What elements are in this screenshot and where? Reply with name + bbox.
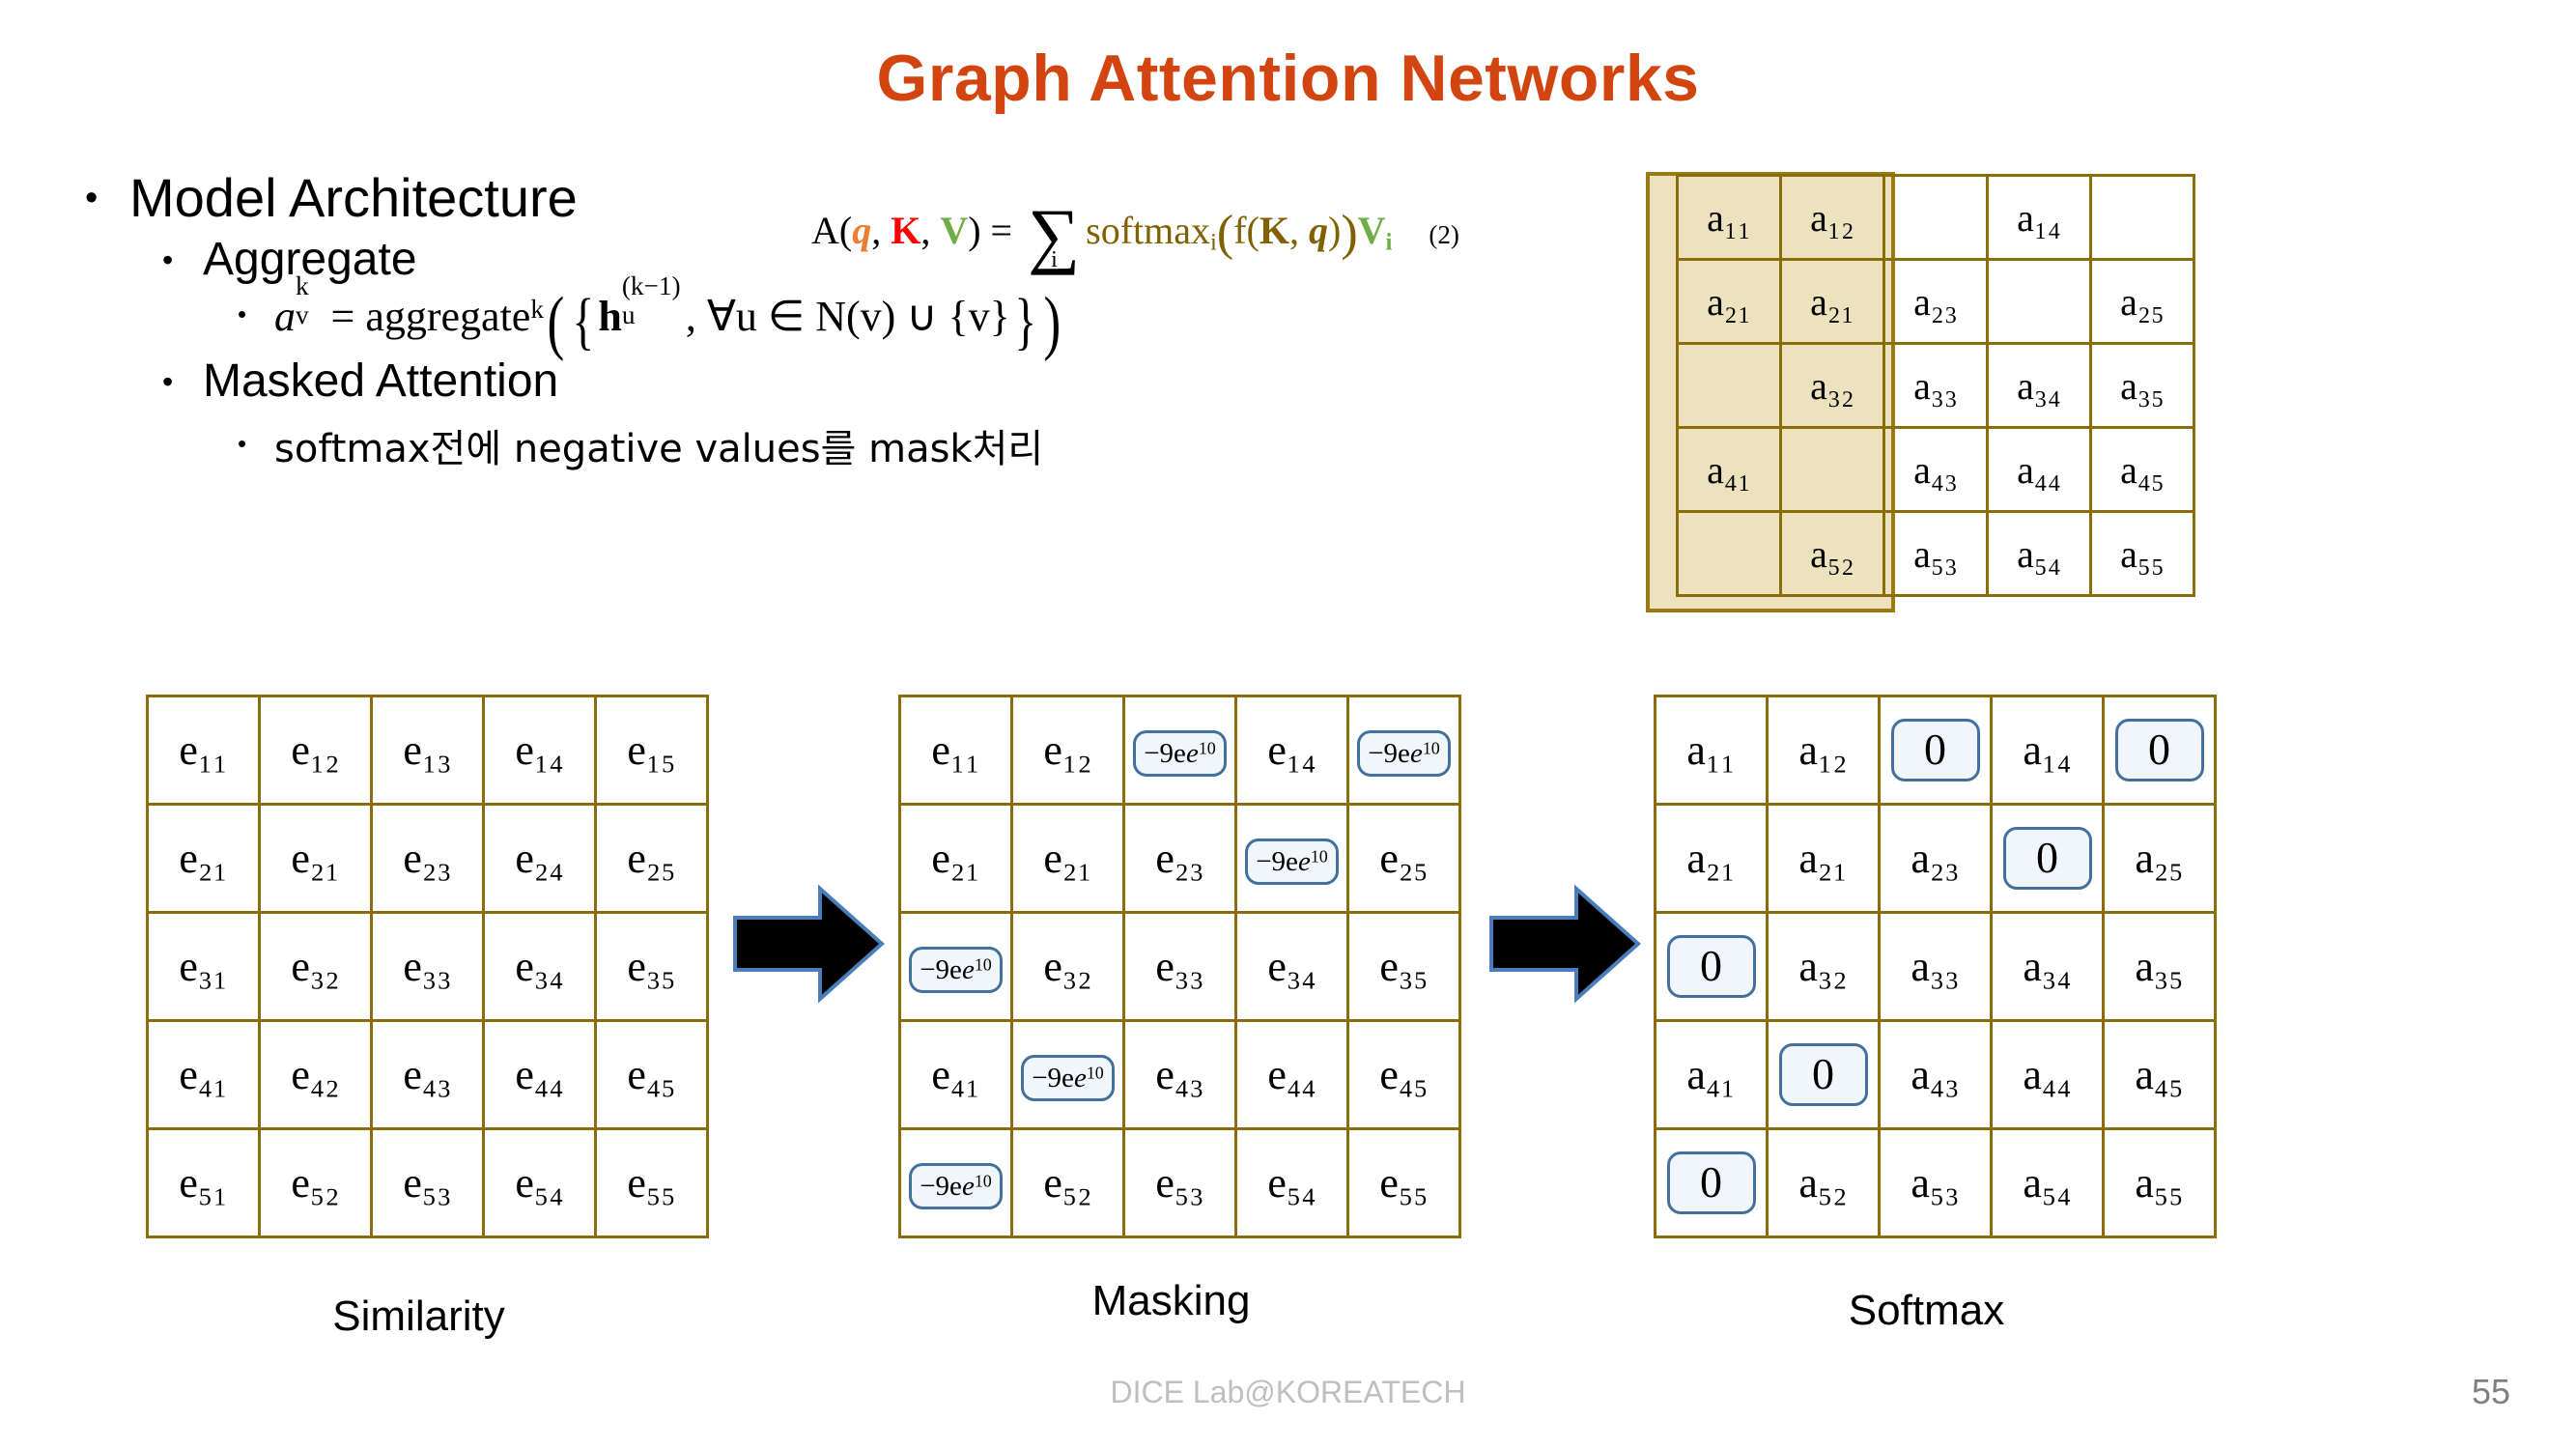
attention-cell-r5c5: a₅₅: [2091, 512, 2194, 596]
similarity-cell-r4c1: e₄₁: [148, 1021, 260, 1129]
masking-cell-r5c1: −9ee10: [900, 1129, 1012, 1237]
bullet-masked-attention: • Masked Attention: [162, 355, 1592, 408]
table-body: a₁₁a₁₂0a₁₄0a₂₁a₂₁a₂₃0a₂₅0a₃₂a₃₃a₃₄a₃₅a₄₁…: [1656, 696, 2216, 1237]
bullet-label: Masked Attention: [203, 355, 558, 408]
bullet-dot-icon: •: [85, 166, 129, 216]
caption-similarity: Similarity: [146, 1293, 692, 1341]
softmax-cell-r1c3: 0: [1880, 696, 1992, 805]
attention-cell-r2c2: a₂₁: [1781, 260, 1884, 344]
eq2-f-close: ): [1328, 209, 1341, 252]
bullet-aggregate-formula: • akv = aggregatek({h(k−1)u, ∀u ∈ N(v) ∪…: [238, 288, 1592, 341]
eq2-q: q: [852, 209, 871, 252]
softmax-cell-r3c2: a₃₂: [1768, 913, 1880, 1021]
softmax-cell-r2c2: a₂₁: [1768, 805, 1880, 913]
similarity-cell-r1c2: e₁₂: [260, 696, 372, 805]
zero-value-box: 0: [1891, 719, 1980, 781]
bullet-dot-icon: •: [238, 288, 274, 327]
softmax-cell-r1c5: 0: [2104, 696, 2216, 805]
eq2-comma2: ,: [920, 209, 940, 252]
bullet-dot-icon: •: [162, 355, 203, 397]
similarity-cell-r2c5: e₂₅: [596, 805, 708, 913]
similarity-cell-r4c4: e₄₄: [484, 1021, 596, 1129]
eq-open-brace: {: [572, 305, 594, 337]
attention-cell-r2c5: a₂₅: [2091, 260, 2194, 344]
eq2-f-comma: ,: [1289, 209, 1309, 252]
table-row: e₅₁e₅₂e₅₃e₅₄e₅₅: [148, 1129, 708, 1237]
table-row: a₂₁a₂₁a₂₃a₂₅: [1678, 260, 2194, 344]
similarity-cell-r4c2: e₄₂: [260, 1021, 372, 1129]
softmax-cell-r4c4: a₄₄: [1992, 1021, 2104, 1129]
attention-cell-r2c4: [1988, 260, 2091, 344]
similarity-cell-r5c4: e₅₄: [484, 1129, 596, 1237]
softmax-cell-r2c5: a₂₅: [2104, 805, 2216, 913]
masking-cell-r5c5: e₅₅: [1348, 1129, 1460, 1237]
attention-cell-r1c2: a₁₂: [1781, 176, 1884, 260]
softmax-cell-r3c4: a₃₄: [1992, 913, 2104, 1021]
masked-value-box: −9ee10: [909, 947, 1003, 993]
attention-cell-r1c5: [2091, 176, 2194, 260]
masked-value-box: −9ee10: [1133, 730, 1227, 777]
similarity-cell-r3c2: e₃₂: [260, 913, 372, 1021]
table-row: −9ee10e₅₂e₅₃e₅₄e₅₅: [900, 1129, 1460, 1237]
attention-cell-r5c1: [1678, 512, 1781, 596]
similarity-cell-r2c2: e₂₁: [260, 805, 372, 913]
equation-number: (2): [1429, 220, 1458, 249]
similarity-cell-r1c3: e₁₃: [372, 696, 484, 805]
table-row: a₁₁a₁₂0a₁₄0: [1656, 696, 2216, 805]
table-row: a₄₁a₄₃a₄₄a₄₅: [1678, 428, 2194, 512]
eq2-f: f(: [1233, 209, 1260, 252]
similarity-cell-r3c4: e₃₄: [484, 913, 596, 1021]
masked-value-box: −9ee10: [1245, 838, 1339, 885]
similarity-cell-r3c5: e₃₅: [596, 913, 708, 1021]
softmax-matrix-table: a₁₁a₁₂0a₁₄0a₂₁a₂₁a₂₃0a₂₅0a₃₂a₃₃a₃₄a₃₅a₄₁…: [1654, 695, 2217, 1238]
eq2-V-out: V: [1358, 209, 1386, 252]
eq-close-brace: }: [1014, 305, 1036, 337]
eq2-equals: ) =: [968, 209, 1022, 252]
footer-lab-name: DICE Lab@KOREATECH: [0, 1375, 2576, 1410]
masking-cell-r3c1: −9ee10: [900, 913, 1012, 1021]
attention-cell-r4c4: a₄₄: [1988, 428, 2091, 512]
softmax-cell-r3c5: a₃₅: [2104, 913, 2216, 1021]
eq2-f-K: K: [1260, 209, 1289, 252]
attention-cell-r3c4: a₃₄: [1988, 344, 2091, 428]
zero-value-box: 0: [2115, 719, 2204, 781]
eq2-softmax: softmax: [1086, 209, 1210, 252]
softmax-cell-r4c5: a₄₅: [2104, 1021, 2216, 1129]
table-row: e₃₁e₃₂e₃₃e₃₄e₃₅: [148, 913, 708, 1021]
similarity-cell-r2c1: e₂₁: [148, 805, 260, 913]
eq-a-subscript: v: [296, 300, 309, 330]
similarity-cell-r3c1: e₃₁: [148, 913, 260, 1021]
eq2-f-q: q: [1309, 209, 1328, 252]
bullet-label: Aggregate: [203, 233, 417, 286]
masking-cell-r3c2: e₃₂: [1012, 913, 1124, 1021]
softmax-cell-r4c2: 0: [1768, 1021, 1880, 1129]
softmax-cell-r3c1: 0: [1656, 913, 1768, 1021]
masking-cell-r1c5: −9ee10: [1348, 696, 1460, 805]
attention-cell-r4c1: a₄₁: [1678, 428, 1781, 512]
table-row: e₁₁e₁₂e₁₃e₁₄e₁₅: [148, 696, 708, 805]
softmax-cell-r2c3: a₂₃: [1880, 805, 1992, 913]
attention-cell-r3c3: a₃₃: [1884, 344, 1988, 428]
masking-cell-r2c1: e₂₁: [900, 805, 1012, 913]
similarity-cell-r1c4: e₁₄: [484, 696, 596, 805]
softmax-cell-r2c1: a₂₁: [1656, 805, 1768, 913]
attention-cell-r5c4: a₅₄: [1988, 512, 2091, 596]
eq2-comma1: ,: [871, 209, 891, 252]
softmax-cell-r1c4: a₁₄: [1992, 696, 2104, 805]
zero-value-box: 0: [1667, 935, 1756, 998]
softmax-cell-r4c1: a₄₁: [1656, 1021, 1768, 1129]
eq-equals: =: [321, 293, 366, 340]
zero-value-box: 0: [1667, 1151, 1756, 1214]
attention-cell-r4c2: [1781, 428, 1884, 512]
attention-cell-r3c2: a₃₂: [1781, 344, 1884, 428]
similarity-cell-r5c5: e₅₅: [596, 1129, 708, 1237]
masking-cell-r3c4: e₃₄: [1236, 913, 1348, 1021]
similarity-matrix-table: e₁₁e₁₂e₁₃e₁₄e₁₅e₂₁e₂₁e₂₃e₂₄e₂₅e₃₁e₃₂e₃₃e…: [146, 695, 709, 1238]
eq-h-superscript: (k−1): [622, 271, 681, 301]
attention-cell-r2c3: a₂₃: [1884, 260, 1988, 344]
softmax-cell-r3c3: a₃₃: [1880, 913, 1992, 1021]
softmax-cell-r2c4: 0: [1992, 805, 2104, 913]
similarity-cell-r5c3: e₅₃: [372, 1129, 484, 1237]
attention-cell-r4c3: a₄₃: [1884, 428, 1988, 512]
masked-value-box: −9ee10: [1021, 1055, 1115, 1101]
masked-value-box: −9ee10: [1357, 730, 1451, 777]
page-title: Graph Attention Networks: [0, 41, 2576, 116]
masking-cell-r4c4: e₄₄: [1236, 1021, 1348, 1129]
attention-equation: A(q, K, V) = ∑isoftmaxi(f(K, q))Vi(2): [811, 205, 1459, 262]
table-row: a₄₁0a₄₃a₄₄a₄₅: [1656, 1021, 2216, 1129]
bullet-dot-icon: •: [162, 233, 203, 275]
similarity-cell-r1c5: e₁₅: [596, 696, 708, 805]
masking-cell-r1c2: e₁₂: [1012, 696, 1124, 805]
masking-cell-r5c4: e₅₄: [1236, 1129, 1348, 1237]
softmax-cell-r5c2: a₅₂: [1768, 1129, 1880, 1237]
table-row: e₂₁e₂₁e₂₃e₂₄e₂₅: [148, 805, 708, 913]
eq-forall-clause: , ∀u ∈ N(v) ∪ {v}: [686, 293, 1010, 340]
masking-cell-r2c4: −9ee10: [1236, 805, 1348, 913]
eq-close-paren: ): [1044, 305, 1062, 341]
similarity-cell-r4c3: e₄₃: [372, 1021, 484, 1129]
zero-value-box: 0: [2003, 827, 2092, 890]
eq-open-paren: (: [547, 305, 564, 341]
masking-cell-r4c1: e₄₁: [900, 1021, 1012, 1129]
eq-a-superscript: k: [296, 271, 309, 301]
caption-softmax: Softmax: [1654, 1287, 2199, 1335]
softmax-cell-r1c1: a₁₁: [1656, 696, 1768, 805]
masking-cell-r4c5: e₄₅: [1348, 1021, 1460, 1129]
eq2-K: K: [891, 209, 920, 252]
attention-matrix-table: a₁₁a₁₂a₁₄a₂₁a₂₁a₂₃a₂₅a₃₂a₃₃a₃₄a₃₅a₄₁a₄₃a…: [1676, 174, 2195, 597]
eq2-close-paren: ): [1341, 206, 1357, 261]
eq2-V-sub: i: [1386, 230, 1393, 256]
eq2-lhs: A(: [811, 209, 852, 252]
similarity-cell-r2c3: e₂₃: [372, 805, 484, 913]
softmax-cell-r1c2: a₁₂: [1768, 696, 1880, 805]
attention-cell-r5c2: a₅₂: [1781, 512, 1884, 596]
masking-cell-r1c1: e₁₁: [900, 696, 1012, 805]
table-row: e₁₁e₁₂−9ee10e₁₄−9ee10: [900, 696, 1460, 805]
masked-value-box: −9ee10: [909, 1163, 1003, 1209]
eq2-open-paren: (: [1217, 206, 1233, 261]
masking-cell-r2c2: e₂₁: [1012, 805, 1124, 913]
masking-cell-r3c3: e₃₃: [1124, 913, 1236, 1021]
eq2-sum-index: i: [1051, 247, 1058, 273]
bullet-label: softmax전에 negative values를 mask처리: [274, 417, 1043, 473]
eq-a-symbol: a: [274, 293, 296, 340]
aggregate-equation: akv = aggregatek({h(k−1)u, ∀u ∈ N(v) ∪ {…: [274, 288, 1064, 341]
similarity-cell-r5c1: e₅₁: [148, 1129, 260, 1237]
table-row: a₃₂a₃₃a₃₄a₃₅: [1678, 344, 2194, 428]
table-row: −9ee10e₃₂e₃₃e₃₄e₃₅: [900, 913, 1460, 1021]
similarity-cell-r3c3: e₃₃: [372, 913, 484, 1021]
masking-cell-r5c2: e₅₂: [1012, 1129, 1124, 1237]
table-row: a₂₁a₂₁a₂₃0a₂₅: [1656, 805, 2216, 913]
table-row: e₂₁e₂₁e₂₃−9ee10e₂₅: [900, 805, 1460, 913]
similarity-cell-r4c5: e₄₅: [596, 1021, 708, 1129]
masking-cell-r2c5: e₂₅: [1348, 805, 1460, 913]
similarity-cell-r5c2: e₅₂: [260, 1129, 372, 1237]
arrow-right-icon-1: [731, 881, 886, 1007]
masking-cell-r4c2: −9ee10: [1012, 1021, 1124, 1129]
table-row: a₁₁a₁₂a₁₄: [1678, 176, 2194, 260]
bullet-korean-note: • softmax전에 negative values를 mask처리: [238, 417, 1592, 473]
eq-aggregate-superscript: k: [530, 295, 544, 324]
masking-cell-r3c5: e₃₅: [1348, 913, 1460, 1021]
eq-aggregate-word: aggregate: [365, 293, 530, 340]
attention-cell-r1c4: a₁₄: [1988, 176, 2091, 260]
eq2-softmax-sub: i: [1210, 230, 1217, 256]
table-row: e₄₁−9ee10e₄₃e₄₄e₄₅: [900, 1021, 1460, 1129]
zero-value-box: 0: [1779, 1043, 1868, 1106]
masking-cell-r1c3: −9ee10: [1124, 696, 1236, 805]
similarity-cell-r1c1: e₁₁: [148, 696, 260, 805]
attention-cell-r5c3: a₅₃: [1884, 512, 1988, 596]
softmax-cell-r5c1: 0: [1656, 1129, 1768, 1237]
masking-cell-r1c4: e₁₄: [1236, 696, 1348, 805]
arrow-right-icon-2: [1487, 881, 1642, 1007]
attention-cell-r1c3: [1884, 176, 1988, 260]
eq-h-subscript: u: [622, 300, 636, 330]
masking-cell-r5c3: e₅₃: [1124, 1129, 1236, 1237]
table-body: a₁₁a₁₂a₁₄a₂₁a₂₁a₂₃a₂₅a₃₂a₃₃a₃₄a₃₅a₄₁a₄₃a…: [1678, 176, 2194, 596]
attention-cell-r3c5: a₃₅: [2091, 344, 2194, 428]
attention-cell-r1c1: a₁₁: [1678, 176, 1781, 260]
softmax-cell-r5c5: a₅₅: [2104, 1129, 2216, 1237]
table-body: e₁₁e₁₂e₁₃e₁₄e₁₅e₂₁e₂₁e₂₃e₂₄e₂₅e₃₁e₃₂e₃₃e…: [148, 696, 708, 1237]
table-row: e₄₁e₄₂e₄₃e₄₄e₄₅: [148, 1021, 708, 1129]
attention-cell-r4c5: a₄₅: [2091, 428, 2194, 512]
eq-h-symbol: h: [598, 293, 621, 340]
table-row: a₅₂a₅₃a₅₄a₅₅: [1678, 512, 2194, 596]
softmax-cell-r5c3: a₅₃: [1880, 1129, 1992, 1237]
eq2-V: V: [940, 209, 968, 252]
bullet-label: Model Architecture: [129, 166, 578, 229]
table-body: e₁₁e₁₂−9ee10e₁₄−9ee10e₂₁e₂₁e₂₃−9ee10e₂₅−…: [900, 696, 1460, 1237]
bullet-dot-icon: •: [238, 417, 274, 456]
attention-cell-r2c1: a₂₁: [1678, 260, 1781, 344]
masking-cell-r2c3: e₂₃: [1124, 805, 1236, 913]
table-row: 0a₅₂a₅₃a₅₄a₅₅: [1656, 1129, 2216, 1237]
caption-masking: Masking: [898, 1277, 1444, 1325]
softmax-cell-r5c4: a₅₄: [1992, 1129, 2104, 1237]
softmax-cell-r4c3: a₄₃: [1880, 1021, 1992, 1129]
table-row: 0a₃₂a₃₃a₃₄a₃₅: [1656, 913, 2216, 1021]
masking-matrix-table: e₁₁e₁₂−9ee10e₁₄−9ee10e₂₁e₂₁e₂₃−9ee10e₂₅−…: [898, 695, 1461, 1238]
masking-cell-r4c3: e₄₃: [1124, 1021, 1236, 1129]
page-number: 55: [2472, 1372, 2510, 1412]
attention-cell-r3c1: [1678, 344, 1781, 428]
similarity-cell-r2c4: e₂₄: [484, 805, 596, 913]
